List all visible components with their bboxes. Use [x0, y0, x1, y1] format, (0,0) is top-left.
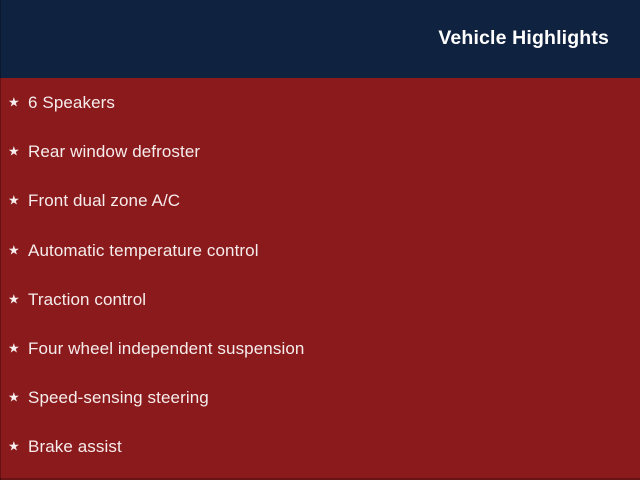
- star-icon: ★: [8, 292, 28, 305]
- list-item: ★ Rear window defroster: [0, 127, 640, 176]
- highlight-label: Rear window defroster: [28, 143, 200, 160]
- page-header: Vehicle Highlights: [0, 0, 640, 78]
- star-icon: ★: [8, 145, 28, 158]
- star-icon: ★: [8, 342, 28, 355]
- star-icon: ★: [8, 194, 28, 207]
- highlight-label: Brake assist: [28, 438, 122, 455]
- star-icon: ★: [8, 243, 28, 256]
- list-item: ★ Speed-sensing steering: [0, 373, 640, 422]
- list-item: ★ 6 Speakers: [0, 78, 640, 127]
- list-item: ★ Traction control: [0, 275, 640, 324]
- list-item: ★ Four wheel independent suspension: [0, 324, 640, 373]
- list-item: ★ Automatic temperature control: [0, 226, 640, 275]
- highlight-label: Automatic temperature control: [28, 242, 259, 259]
- frame-edge-left: [0, 0, 1, 480]
- highlights-panel: ★ 6 Speakers ★ Rear window defroster ★ F…: [0, 78, 640, 480]
- highlight-label: Front dual zone A/C: [28, 192, 180, 209]
- highlight-label: Traction control: [28, 291, 146, 308]
- page-title: Vehicle Highlights: [438, 29, 609, 49]
- list-item: ★ Front dual zone A/C: [0, 176, 640, 225]
- highlight-label: Speed-sensing steering: [28, 389, 209, 406]
- highlights-list: ★ 6 Speakers ★ Rear window defroster ★ F…: [0, 78, 640, 472]
- highlight-label: 6 Speakers: [28, 94, 115, 111]
- vehicle-highlights-page: Vehicle Highlights ★ 6 Speakers ★ Rear w…: [0, 0, 640, 480]
- star-icon: ★: [8, 440, 28, 453]
- star-icon: ★: [8, 391, 28, 404]
- star-icon: ★: [8, 96, 28, 109]
- highlight-label: Four wheel independent suspension: [28, 340, 304, 357]
- list-item: ★ Brake assist: [0, 422, 640, 471]
